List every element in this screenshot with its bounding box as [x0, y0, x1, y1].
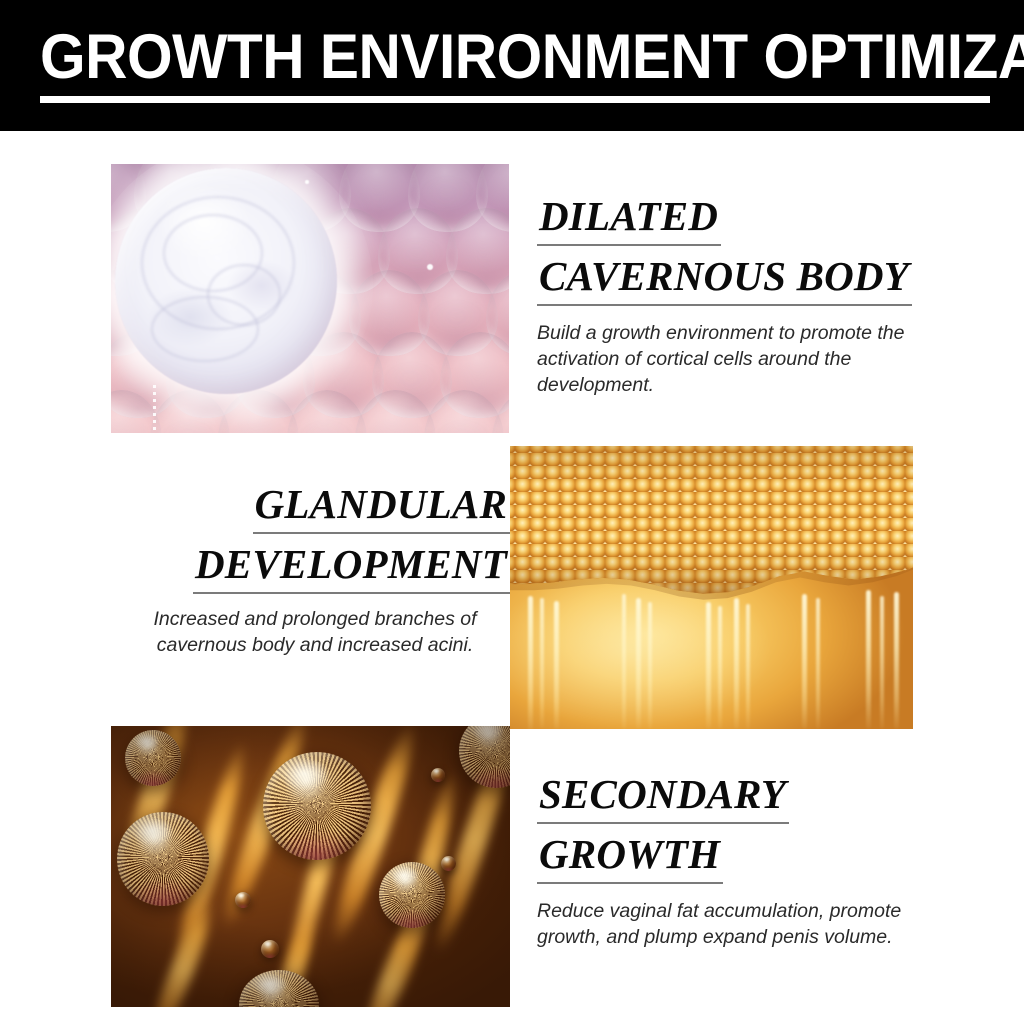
- droplet: [379, 862, 445, 928]
- section-text-dilated-cavernous-body: DILATED CAVERNOUS BODY Build a growth en…: [537, 193, 935, 398]
- section-heading-glandular-development: GLANDULAR DEVELOPMENT: [120, 481, 510, 594]
- section-image-secondary-growth: [111, 726, 510, 1007]
- section-text-secondary-growth: SECONDARY GROWTH Reduce vaginal fat accu…: [537, 771, 935, 950]
- section-body-glandular-development: Increased and prolonged branches of cave…: [120, 606, 510, 658]
- section-heading-secondary-growth: SECONDARY GROWTH: [537, 771, 935, 884]
- page-title: GROWTH ENVIRONMENT OPTIMIZATION: [40, 24, 925, 90]
- droplet-small: [431, 768, 445, 782]
- droplet-small: [441, 856, 456, 871]
- droplet-small: [235, 892, 251, 908]
- heading-line: GLANDULAR: [253, 481, 510, 534]
- heading-line: GROWTH: [537, 831, 723, 884]
- dotted-marker: [153, 385, 156, 431]
- heading-line: DEVELOPMENT: [193, 541, 510, 594]
- heading-line: CAVERNOUS BODY: [537, 253, 912, 306]
- pink-cell-tissue-graphic: [111, 164, 509, 433]
- section-text-glandular-development: GLANDULAR DEVELOPMENT Increased and prol…: [120, 481, 510, 658]
- section-heading-dilated-cavernous-body: DILATED CAVERNOUS BODY: [537, 193, 935, 306]
- droplet: [125, 730, 181, 786]
- droplet-small: [261, 940, 279, 958]
- honeycomb-fibre-graphic: [510, 446, 913, 729]
- section-image-dilated-cavernous-body: [111, 164, 509, 433]
- honeycomb-bead-layer: [510, 446, 913, 598]
- droplet: [239, 970, 319, 1007]
- header-banner: GROWTH ENVIRONMENT OPTIMIZATION: [0, 0, 1024, 131]
- content-area: DILATED CAVERNOUS BODY Build a growth en…: [0, 131, 1024, 1024]
- section-body-dilated-cavernous-body: Build a growth environment to promote th…: [537, 320, 935, 398]
- section-body-secondary-growth: Reduce vaginal fat accumulation, promote…: [537, 898, 935, 950]
- bubble-highlight: [115, 168, 337, 394]
- droplet: [263, 752, 371, 860]
- droplet: [117, 812, 209, 906]
- amber-droplet-graphic: [111, 726, 510, 1007]
- section-image-glandular-development: [510, 446, 913, 729]
- heading-line: DILATED: [537, 193, 721, 246]
- heading-line: SECONDARY: [537, 771, 789, 824]
- title-underline-rule: [40, 96, 990, 103]
- droplet: [459, 726, 510, 788]
